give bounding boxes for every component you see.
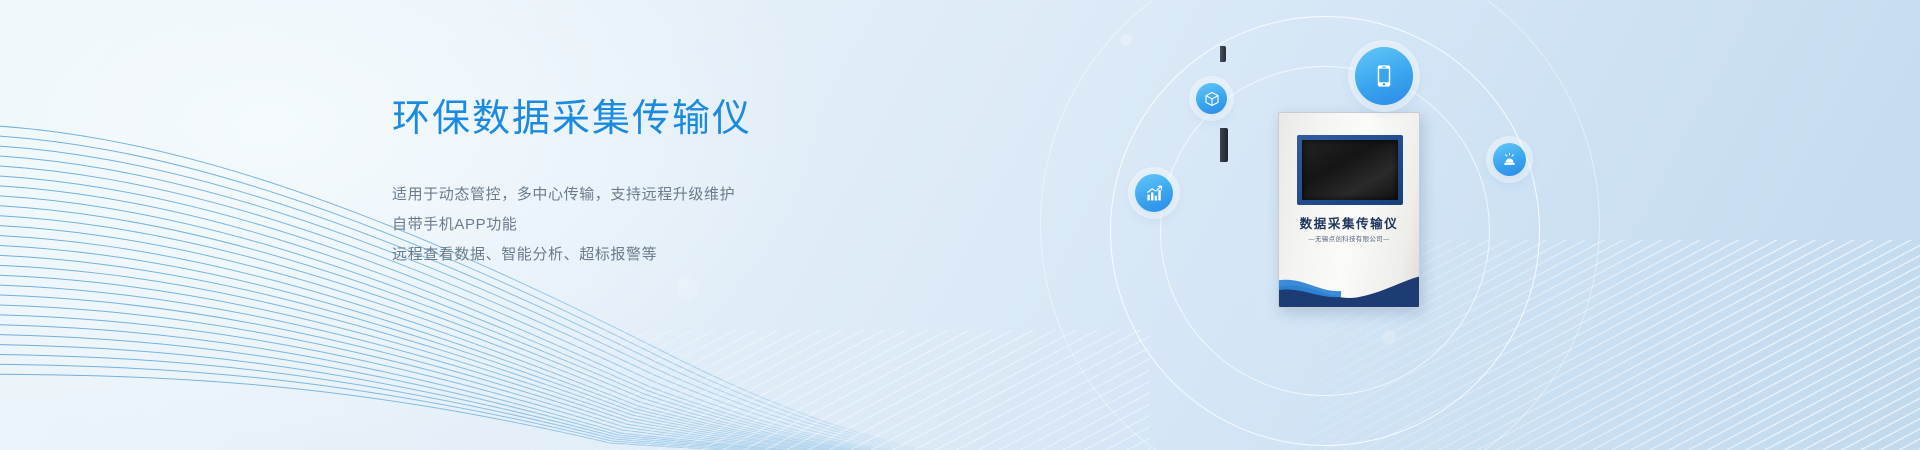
hatch-pattern-bottom <box>330 330 1150 450</box>
subtitle-line-2: 自带手机APP功能 <box>392 210 952 240</box>
device-side-port <box>1220 128 1228 162</box>
device-label: 数据采集传输仪 <box>1279 213 1419 232</box>
product-stage: 数据采集传输仪 —无锡点创科技有限公司— <box>1080 0 1840 450</box>
device-display <box>1302 140 1398 200</box>
hero-copy: 环保数据采集传输仪 适用于动态管控，多中心传输，支持远程升级维护 自带手机APP… <box>392 96 952 270</box>
product-hero-banner: 环保数据采集传输仪 适用于动态管控，多中心传输，支持远程升级维护 自带手机APP… <box>0 0 1920 450</box>
smartphone-icon-bubble <box>1355 47 1413 105</box>
alarm-light-icon <box>1501 151 1518 168</box>
bar-chart-icon-bubble <box>1135 174 1173 212</box>
subtitle-line-3: 远程查看数据、智能分析、超标报警等 <box>392 240 952 270</box>
data-acquisition-device: 数据采集传输仪 —无锡点创科技有限公司— <box>1278 112 1420 308</box>
cube-icon <box>1204 91 1220 107</box>
device-company-name: —无锡点创科技有限公司— <box>1279 233 1419 243</box>
device-bottom-band <box>1278 267 1420 308</box>
hero-subtitle: 适用于动态管控，多中心传输，支持远程升级维护 自带手机APP功能 远程查看数据、… <box>392 180 952 270</box>
bokeh-circle <box>676 278 698 300</box>
device-side-button <box>1220 46 1226 62</box>
page-title: 环保数据采集传输仪 <box>392 96 952 144</box>
cube-icon-bubble <box>1196 83 1227 114</box>
bar-chart-icon <box>1145 184 1164 203</box>
subtitle-line-1: 适用于动态管控，多中心传输，支持远程升级维护 <box>392 180 952 210</box>
smartphone-icon <box>1371 63 1397 89</box>
alarm-light-icon-bubble <box>1493 143 1526 176</box>
device-screen-bezel <box>1297 135 1403 205</box>
